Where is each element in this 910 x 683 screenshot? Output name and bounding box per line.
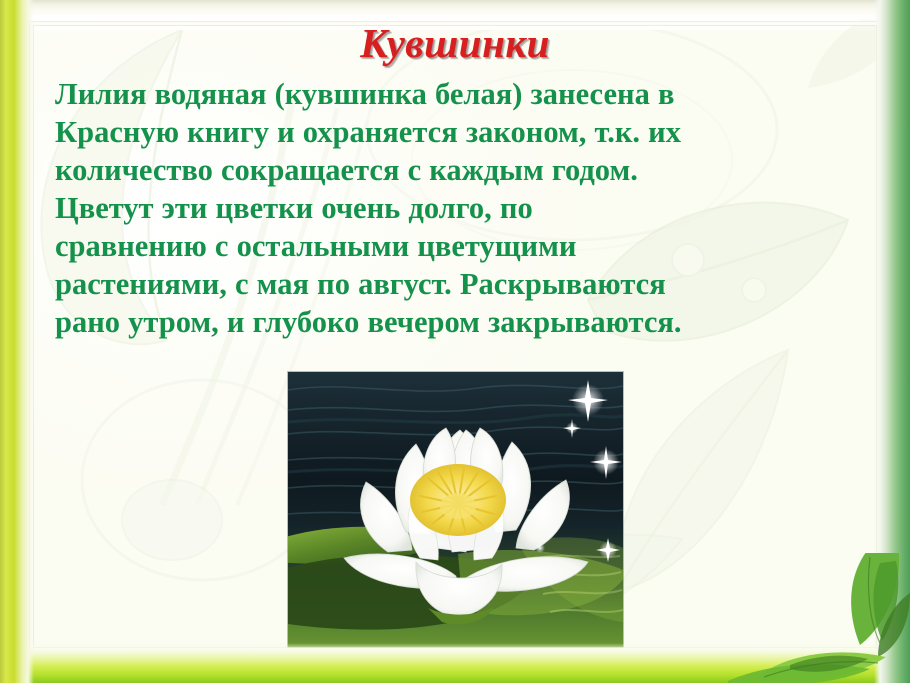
border-band-bottom xyxy=(18,655,892,677)
body-line: Лилия водяная (кувшинка белая) занесена … xyxy=(55,76,860,114)
body-line: сравнению с остальными цветущими xyxy=(55,228,860,266)
slide-body-text: Лилия водяная (кувшинка белая) занесена … xyxy=(55,76,860,342)
slide-content: Кувшинки Лилия водяная (кувшинка белая) … xyxy=(0,0,910,683)
presentation-slide: Кувшинки Лилия водяная (кувшинка белая) … xyxy=(0,0,910,683)
border-band-left xyxy=(8,10,28,649)
body-line: количество сокращается с каждым годом. xyxy=(55,152,860,190)
body-line: Красную книгу и охраняется законом, т.к.… xyxy=(55,114,860,152)
white-water-lily-photo xyxy=(288,372,623,654)
slide-title: Кувшинки xyxy=(0,22,910,65)
body-line: рано утром, и глубоко вечером закрываютс… xyxy=(55,304,860,342)
body-line: Цветут эти цветки очень долго, по xyxy=(55,190,860,228)
body-line: растениями, с мая по август. Раскрываютс… xyxy=(55,266,860,304)
border-band-right xyxy=(884,6,906,659)
